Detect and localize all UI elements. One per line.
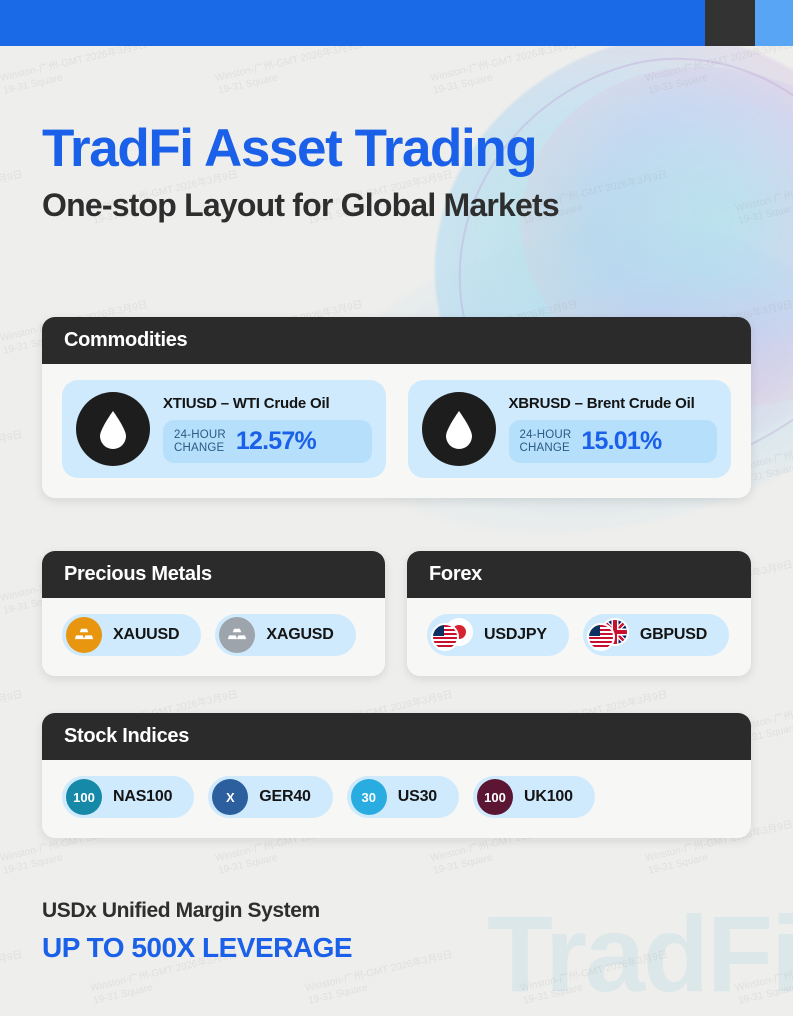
stock-indices-list: 100 NAS100 X GER40 30 US30 100 UK100 xyxy=(62,776,731,818)
footer-block: USDx Unified Margin System UP TO 500X LE… xyxy=(42,899,352,964)
asset-chip-nas100[interactable]: 100 NAS100 xyxy=(62,776,194,818)
section-precious-metals: Precious Metals XAUUSD xyxy=(42,551,385,676)
change-label-line2: CHANGE xyxy=(520,442,570,454)
change-label-line1: 24-HOUR xyxy=(520,429,572,441)
section-stock-indices-heading: Stock Indices xyxy=(42,713,751,760)
section-precious-metals-body: XAUUSD XAGUSD xyxy=(42,598,385,676)
change-pill: 24-HOUR CHANGE 15.01% xyxy=(509,420,718,463)
section-forex-body: USDJPY xyxy=(407,598,751,676)
asset-chip-label: GER40 xyxy=(259,788,310,806)
asset-chip-uk100[interactable]: 100 UK100 xyxy=(473,776,595,818)
commodity-card-xtiusd[interactable]: XTIUSD – WTI Crude Oil 24-HOUR CHANGE 12… xyxy=(62,380,386,478)
asset-chip-xauusd[interactable]: XAUUSD xyxy=(62,614,201,656)
change-value: 15.01% xyxy=(581,427,661,456)
asset-chip-gbpusd[interactable]: GBPUSD xyxy=(583,614,729,656)
silver-bars-icon xyxy=(219,617,255,653)
heading-block: TradFi Asset Trading One-stop Layout for… xyxy=(42,122,742,221)
section-stock-indices: Stock Indices 100 NAS100 X GER40 30 US30… xyxy=(42,713,751,838)
section-commodities-body: XTIUSD – WTI Crude Oil 24-HOUR CHANGE 12… xyxy=(42,364,751,498)
section-precious-metals-heading: Precious Metals xyxy=(42,551,385,598)
precious-metals-list: XAUUSD XAGUSD xyxy=(62,614,365,656)
footer-leverage-text: UP TO 500X LEVERAGE xyxy=(42,932,352,964)
asset-chip-label: XAGUSD xyxy=(266,626,333,644)
us30-badge-icon: 30 xyxy=(351,779,387,815)
change-label: 24-HOUR CHANGE xyxy=(174,429,226,455)
section-stock-indices-body: 100 NAS100 X GER40 30 US30 100 UK100 xyxy=(42,760,751,838)
change-label-line2: CHANGE xyxy=(174,442,224,454)
asset-chip-ger40[interactable]: X GER40 xyxy=(208,776,332,818)
asset-chip-usdjpy[interactable]: USDJPY xyxy=(427,614,569,656)
asset-chip-label: USDJPY xyxy=(484,626,547,644)
page-title: TradFi Asset Trading xyxy=(42,122,742,175)
oil-drop-icon xyxy=(76,392,150,466)
forex-list: USDJPY xyxy=(427,614,731,656)
asset-chip-label: NAS100 xyxy=(113,788,172,806)
commodity-info: XBRUSD – Brent Crude Oil 24-HOUR CHANGE … xyxy=(509,395,718,463)
us-jp-flag-pair-icon xyxy=(431,617,473,653)
commodity-card-xbrusd[interactable]: XBRUSD – Brent Crude Oil 24-HOUR CHANGE … xyxy=(408,380,732,478)
commodity-name: XTIUSD – WTI Crude Oil xyxy=(163,395,372,412)
us-flag-icon xyxy=(431,623,459,651)
commodity-info: XTIUSD – WTI Crude Oil 24-HOUR CHANGE 12… xyxy=(163,395,372,463)
ger40-badge-icon: X xyxy=(212,779,248,815)
footer-margin-system-text: USDx Unified Margin System xyxy=(42,899,352,923)
change-pill: 24-HOUR CHANGE 12.57% xyxy=(163,420,372,463)
oil-drop-icon xyxy=(422,392,496,466)
commodity-list: XTIUSD – WTI Crude Oil 24-HOUR CHANGE 12… xyxy=(62,380,731,478)
change-value: 12.57% xyxy=(236,427,316,456)
asset-chip-us30[interactable]: 30 US30 xyxy=(347,776,459,818)
gold-bars-icon xyxy=(66,617,102,653)
commodity-name: XBRUSD – Brent Crude Oil xyxy=(509,395,718,412)
asset-chip-xagusd[interactable]: XAGUSD xyxy=(215,614,355,656)
uk100-badge-icon: 100 xyxy=(477,779,513,815)
asset-chip-label: GBPUSD xyxy=(640,626,707,644)
section-forex-heading: Forex xyxy=(407,551,751,598)
poster-content: TradFi Asset Trading One-stop Layout for… xyxy=(0,0,793,1004)
topbar-blue-segment xyxy=(0,0,705,46)
section-forex: Forex xyxy=(407,551,751,676)
gb-us-flag-pair-icon xyxy=(587,617,629,653)
asset-chip-label: XAUUSD xyxy=(113,626,179,644)
topbar-dark-segment xyxy=(705,0,755,46)
nas100-badge-icon: 100 xyxy=(66,779,102,815)
asset-chip-label: UK100 xyxy=(524,788,573,806)
section-commodities-heading: Commodities xyxy=(42,317,751,364)
browser-top-bar xyxy=(0,0,793,46)
change-label-line1: 24-HOUR xyxy=(174,429,226,441)
topbar-light-blue-segment xyxy=(755,0,793,46)
asset-chip-label: US30 xyxy=(398,788,437,806)
section-commodities: Commodities XTIUSD – WTI Crude Oil 24-HO… xyxy=(42,317,751,498)
us-flag-icon xyxy=(587,623,615,651)
change-label: 24-HOUR CHANGE xyxy=(520,429,572,455)
page-subtitle: One-stop Layout for Global Markets xyxy=(42,189,742,221)
